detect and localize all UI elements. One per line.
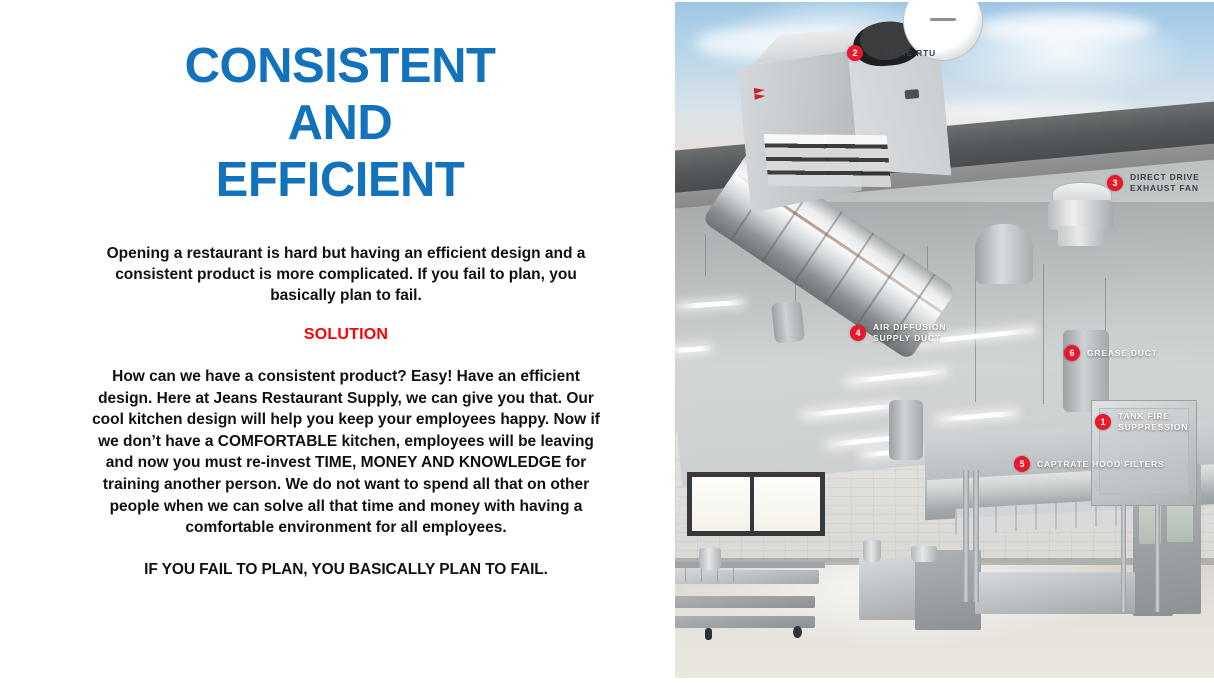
solution-heading: SOLUTION — [86, 326, 606, 344]
duct-elbow — [975, 224, 1033, 284]
rtu-access-port — [904, 89, 919, 99]
light-hanger — [705, 234, 706, 276]
utensil-hook — [701, 568, 702, 582]
rtu-louver — [824, 135, 891, 188]
cabinet-vent-grille — [1167, 500, 1193, 542]
callout-badge: 2 — [847, 45, 863, 61]
utensil-hook — [733, 568, 734, 582]
closing-line: IF YOU FAIL TO PLAN, YOU BASICALLY PLAN … — [86, 561, 606, 579]
stock-pot — [699, 548, 721, 570]
callout-badge: 5 — [1014, 456, 1030, 472]
callout-badge: 6 — [1064, 345, 1080, 361]
callout-label: TANK FIRE SUPPRESSION — [1118, 411, 1214, 433]
callout-direct-drive-exhaust-fan[interactable]: 3 DIRECT DRIVE EXHAUST FAN — [1107, 172, 1200, 194]
kitchen-window — [687, 472, 825, 536]
callout-label: FLOAIRE RTU — [870, 48, 936, 59]
prep-table-caster — [793, 626, 802, 638]
stock-pot — [911, 546, 937, 562]
intro-paragraph: Opening a restaurant is hard but having … — [86, 243, 606, 306]
cloud-shape — [975, 14, 1155, 44]
utensil-hook — [685, 568, 686, 582]
grease-duct-riser — [771, 301, 805, 344]
text-column: CONSISTENT AND EFFICIENT Opening a resta… — [0, 0, 672, 683]
grease-duct-riser — [889, 400, 923, 460]
callout-label: CAPTRATE HOOD FILTERS — [1037, 459, 1164, 470]
stock-pot — [863, 540, 881, 562]
callout-grease-duct[interactable]: 6 GREASE DUCT — [1064, 345, 1158, 361]
exhaust-fan-curb — [1058, 226, 1104, 246]
hood-support-leg — [1121, 504, 1126, 612]
utensil-hook — [717, 568, 718, 582]
callout-label: DIRECT DRIVE EXHAUST FAN — [1130, 172, 1200, 194]
prep-counter-center — [975, 572, 1135, 614]
hood-support-leg — [973, 470, 979, 602]
callout-tank-fire-suppression[interactable]: 1 TANK FIRE SUPPRESSION — [1095, 411, 1214, 433]
callout-label: AIR DIFFUSION SUPPLY DUCT — [873, 322, 946, 344]
hood-support-leg — [963, 470, 969, 602]
slide-canvas: CONSISTENT AND EFFICIENT Opening a resta… — [0, 0, 1214, 683]
callout-label: GREASE DUCT — [1087, 348, 1158, 359]
prep-table-caster — [705, 628, 712, 640]
callout-air-diffusion-supply-duct[interactable]: 4 AIR DIFFUSION SUPPLY DUCT — [850, 322, 946, 344]
title-line-3: EFFICIENT — [60, 152, 620, 209]
main-paragraph: How can we have a consistent product? Ea… — [86, 366, 606, 539]
title-line-1: CONSISTENT — [60, 38, 620, 95]
prep-table-shelf — [675, 596, 815, 608]
page-title: CONSISTENT AND EFFICIENT — [60, 38, 620, 209]
callout-floaire-rtu[interactable]: 2 FLOAIRE RTU — [847, 45, 936, 61]
hood-support-leg — [1155, 504, 1160, 612]
prep-table-left — [675, 570, 819, 584]
range-base — [915, 550, 981, 630]
utensil-rack — [675, 562, 825, 568]
duct-cap-handle — [930, 18, 956, 21]
callout-badge: 3 — [1107, 175, 1123, 191]
title-line-2: AND — [60, 95, 620, 152]
callout-captrate-hood-filters[interactable]: 5 CAPTRATE HOOD FILTERS — [1014, 456, 1164, 472]
callout-badge: 4 — [850, 325, 866, 341]
body-copy: Opening a restaurant is hard but having … — [86, 243, 606, 579]
callout-badge: 1 — [1095, 414, 1111, 430]
rtu-louver — [764, 134, 831, 187]
direct-drive-exhaust-fan — [1048, 182, 1114, 244]
kitchen-ventilation-photo: 2 FLOAIRE RTU 3 DIRECT DRIVE EXHAUST FAN… — [675, 2, 1214, 678]
light-hanger — [1043, 264, 1044, 404]
rtu-left-panel — [737, 51, 863, 213]
